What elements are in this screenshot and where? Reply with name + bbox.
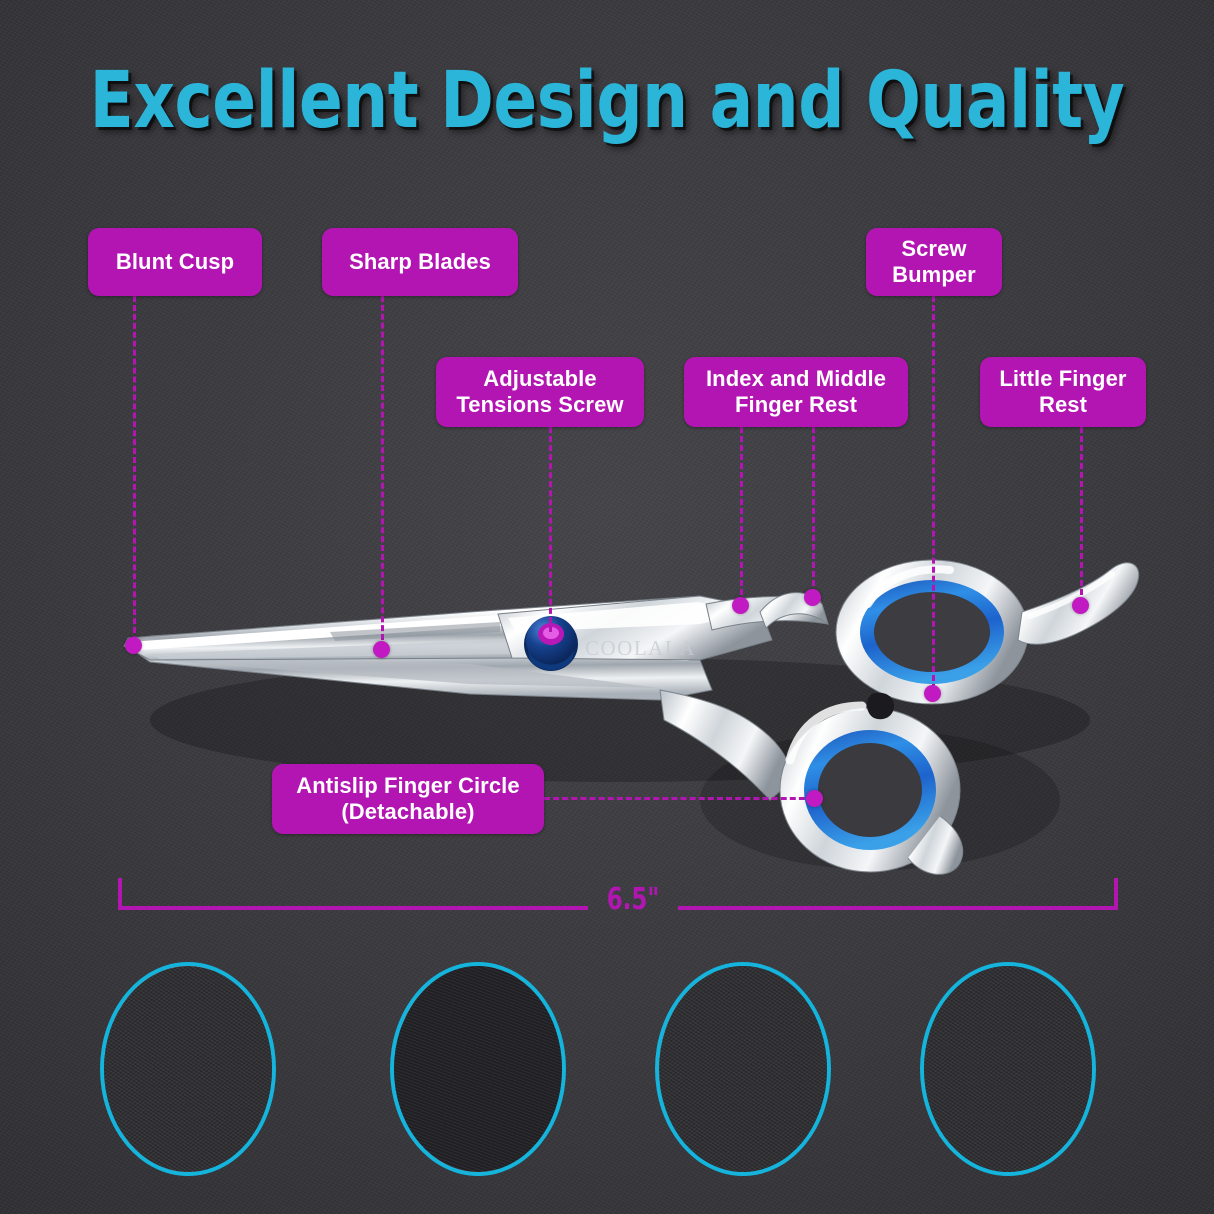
callout-adjustable-tensions-screw[interactable]: Adjustable Tensions Screw <box>436 357 644 427</box>
callout-sharp-blades-label: Sharp Blades <box>349 249 491 275</box>
callout-blunt-cusp[interactable]: Blunt Cusp <box>88 228 262 296</box>
dimension-bar-right <box>678 906 1116 910</box>
callout-antislip-finger-circle[interactable]: Antislip Finger Circle (Detachable) <box>272 764 544 834</box>
callout-screw-bumper-label-line2: Bumper <box>892 262 976 288</box>
thumbnail-finger-ring[interactable] <box>920 962 1096 1176</box>
brand-engraving: COOLALA <box>585 636 696 660</box>
callout-screw-bumper-label-line1: Screw <box>901 236 966 262</box>
leader-sharp-blades <box>381 296 384 640</box>
dimension-value: 6.5" <box>595 882 672 917</box>
dot-index-middle-finger-rest-b <box>804 589 821 606</box>
leader-adjustable-tensions-screw <box>549 427 552 632</box>
dimension-line: 6.5" <box>118 878 1118 924</box>
callout-antislip-finger-circle-label-line1: Antislip Finger Circle <box>296 773 519 799</box>
leader-antislip-finger-circle <box>544 797 814 800</box>
leader-index-middle-finger-rest-b <box>812 427 815 595</box>
dot-index-middle-finger-rest-a <box>732 597 749 614</box>
callout-antislip-finger-circle-label-line2: (Detachable) <box>341 799 474 825</box>
dot-antislip-finger-circle <box>806 790 823 807</box>
thumbnail-sharp-blades[interactable] <box>390 962 566 1176</box>
callout-little-finger-rest[interactable]: Little Finger Rest <box>980 357 1146 427</box>
callout-index-and-middle-finger-rest-label-line1: Index and Middle <box>706 366 886 392</box>
leader-little-finger-rest <box>1080 427 1083 604</box>
callout-little-finger-rest-label-line1: Little Finger <box>999 366 1126 392</box>
callout-adjustable-tensions-screw-label-line1: Adjustable <box>483 366 596 392</box>
dot-screw-bumper <box>924 685 941 702</box>
page-title: Excellent Design and Quality <box>49 62 1166 140</box>
callout-little-finger-rest-label-line2: Rest <box>1039 392 1087 418</box>
callout-adjustable-tensions-screw-label-line2: Tensions Screw <box>456 392 623 418</box>
callout-sharp-blades[interactable]: Sharp Blades <box>322 228 518 296</box>
screw-bumper-nub <box>867 693 894 720</box>
infographic-canvas: Excellent Design and Quality <box>0 0 1214 1214</box>
callout-index-and-middle-finger-rest-label-line2: Finger Rest <box>735 392 857 418</box>
callout-blunt-cusp-label: Blunt Cusp <box>116 249 234 275</box>
callout-screw-bumper[interactable]: Screw Bumper <box>866 228 1002 296</box>
thumbnail-tension-screw[interactable] <box>100 962 276 1176</box>
dot-little-finger-rest <box>1072 597 1089 614</box>
leader-index-middle-finger-rest-a <box>740 427 743 604</box>
dimension-bar-left <box>120 906 588 910</box>
dot-sharp-blades <box>373 641 390 658</box>
leader-blunt-cusp <box>133 296 136 642</box>
leader-screw-bumper <box>932 296 935 690</box>
callout-index-and-middle-finger-rest[interactable]: Index and Middle Finger Rest <box>684 357 908 427</box>
thumbnail-screw-bumper[interactable] <box>655 962 831 1176</box>
dot-blunt-cusp <box>125 637 142 654</box>
